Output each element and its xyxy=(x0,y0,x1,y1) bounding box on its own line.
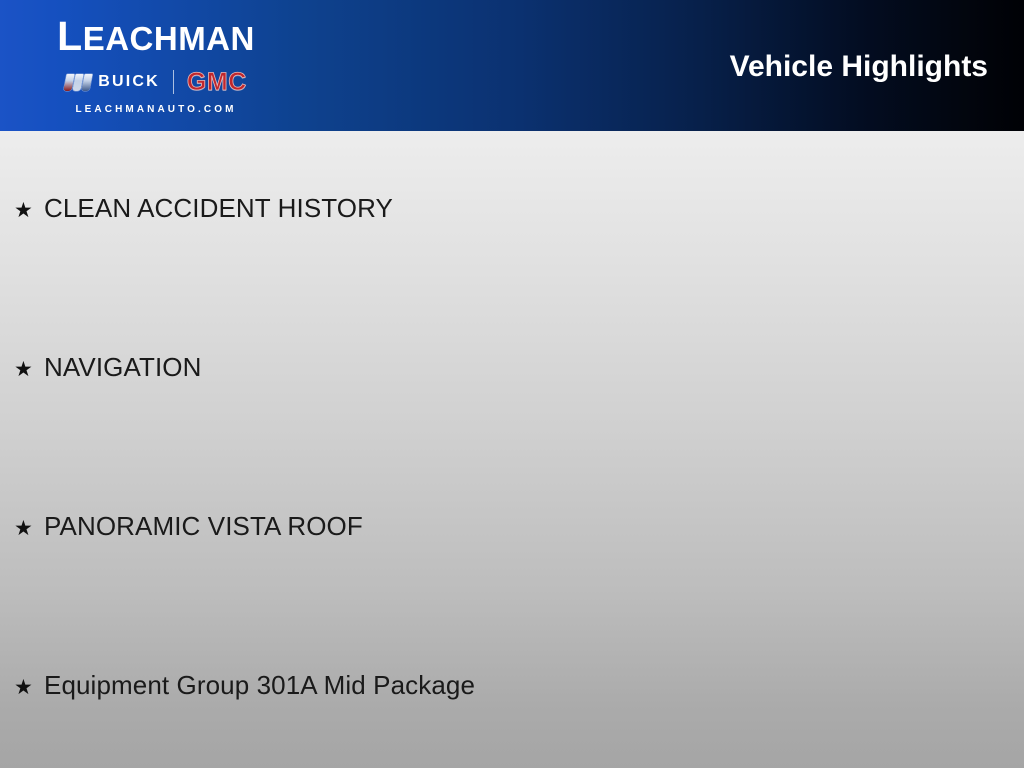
list-item: ★ NAVIGATION xyxy=(14,352,202,384)
dealer-logo[interactable]: LEACHMAN BUICK GMC LEACHMANAUTO.COM xyxy=(26,14,286,122)
wordmark-rest: EACHMAN xyxy=(83,20,255,57)
highlight-label: PANORAMIC VISTA ROOF xyxy=(44,511,363,541)
highlight-label: NAVIGATION xyxy=(44,352,202,382)
buick-tri-shield-icon xyxy=(65,74,91,91)
star-icon: ★ xyxy=(14,356,44,384)
page-header: LEACHMAN BUICK GMC LEACHMANAUTO.COM Vehi… xyxy=(0,0,1024,131)
dealer-wordmark: LEACHMAN xyxy=(26,14,286,61)
brand-row: BUICK GMC xyxy=(26,67,286,97)
vehicle-highlights-slide: LEACHMAN BUICK GMC LEACHMANAUTO.COM Vehi… xyxy=(0,0,1024,768)
star-icon: ★ xyxy=(14,197,44,225)
page-title: Vehicle Highlights xyxy=(730,50,988,84)
buick-label: BUICK xyxy=(98,73,160,91)
list-item: ★ Equipment Group 301A Mid Package xyxy=(14,670,475,702)
highlight-label: CLEAN ACCIDENT HISTORY xyxy=(44,193,393,223)
gmc-label: GMC xyxy=(187,69,247,95)
dealer-website-url[interactable]: LEACHMANAUTO.COM xyxy=(26,104,286,115)
list-item: ★ CLEAN ACCIDENT HISTORY xyxy=(14,193,393,225)
list-item: ★ PANORAMIC VISTA ROOF xyxy=(14,511,363,543)
star-icon: ★ xyxy=(14,674,44,702)
brand-divider xyxy=(173,70,174,94)
wordmark-lead-letter: L xyxy=(57,13,83,59)
highlight-label: Equipment Group 301A Mid Package xyxy=(44,670,475,700)
slide-body: ★ CLEAN ACCIDENT HISTORY ★ NAVIGATION ★ … xyxy=(0,131,1024,768)
star-icon: ★ xyxy=(14,515,44,543)
